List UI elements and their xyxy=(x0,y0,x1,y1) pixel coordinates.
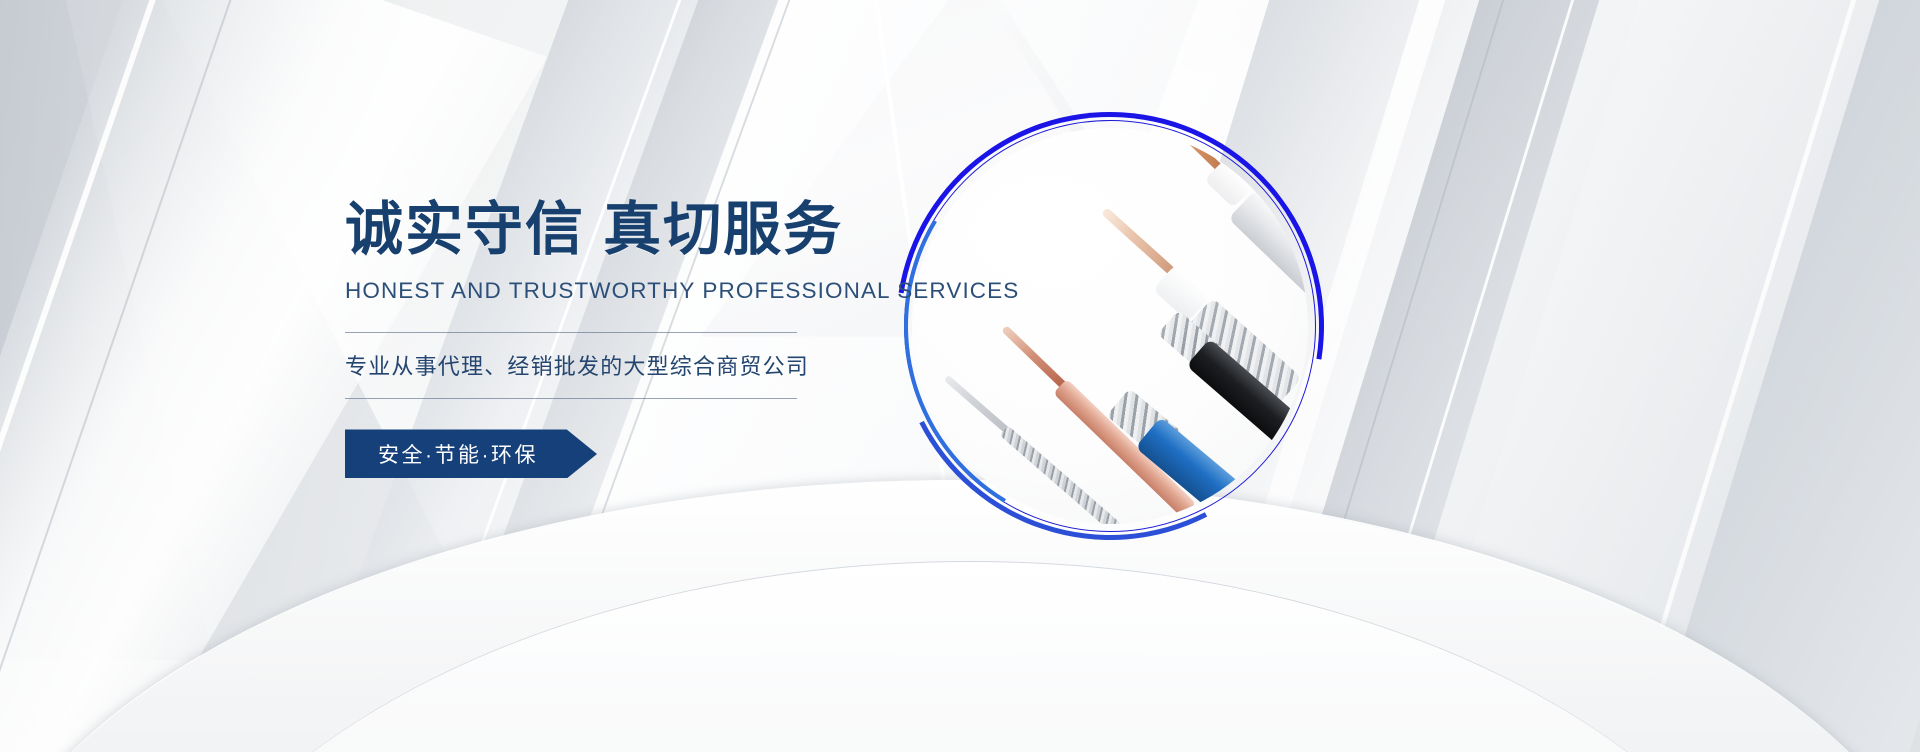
page-title: 诚实守信 真切服务 xyxy=(345,196,865,264)
hero-copy: 诚实守信 真切服务 HONEST AND TRUSTWORTHY PROFESS… xyxy=(345,196,865,483)
subtitle-english: HONEST AND TRUSTWORTHY PROFESSIONAL SERV… xyxy=(345,278,865,304)
subtitle-chinese: 专业从事代理、经销批发的大型综合商贸公司 xyxy=(345,349,865,381)
arrow-tag-icon[interactable]: 安全·节能·环保 xyxy=(345,429,597,478)
tag-label: 安全·节能·环保 xyxy=(345,429,571,478)
hero-banner: RG-6 诚实守信 真切服务 HONEST AND TRUSTWORTHY PR… xyxy=(0,0,1920,752)
divider-top xyxy=(345,332,797,333)
divider-bottom xyxy=(345,398,797,399)
